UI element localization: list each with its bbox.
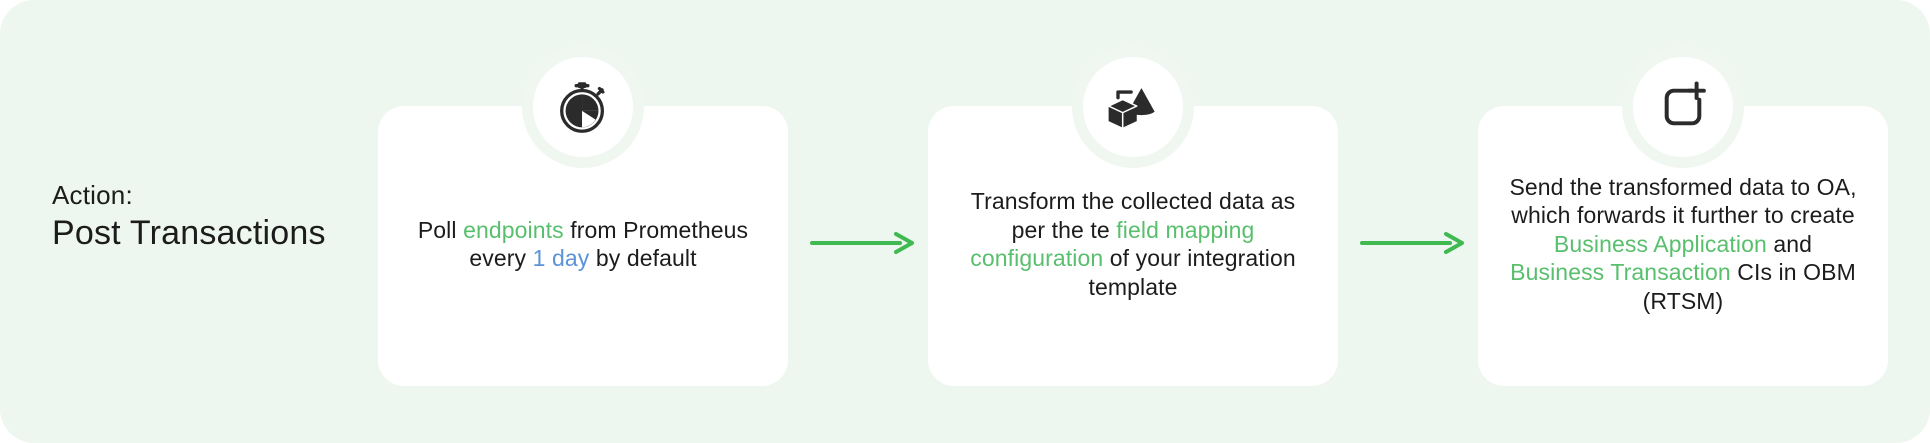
stopwatch-icon <box>522 46 644 168</box>
text-run-highlight: Business Application <box>1554 231 1767 257</box>
flow-card-1-text: Poll endpoints from Prometheus every 1 d… <box>404 216 762 273</box>
text-run: by default <box>589 245 696 271</box>
action-title: Post Transactions <box>52 212 352 254</box>
text-run: Send the transformed data to OA, which f… <box>1509 174 1856 229</box>
text-run-highlight: 1 day <box>533 245 590 271</box>
text-run-highlight: endpoints <box>463 217 564 243</box>
flow-card-3-text: Send the transformed data to OA, which f… <box>1504 173 1862 316</box>
flow-step-2: Transform the collected data as per the … <box>928 46 1338 386</box>
arrow-right-icon <box>810 230 920 256</box>
text-run-highlight: Business Transaction <box>1510 259 1731 285</box>
text-run: and <box>1767 231 1812 257</box>
flow-card-2-text: Transform the collected data as per the … <box>954 187 1312 301</box>
flow-step-1: Poll endpoints from Prometheus every 1 d… <box>378 46 788 386</box>
text-run: of your integration template <box>1088 245 1295 300</box>
arrow-right-icon <box>1360 230 1470 256</box>
text-run: Poll <box>418 217 463 243</box>
transform-shapes-icon <box>1072 46 1194 168</box>
action-label-group: Action: Post Transactions <box>52 178 352 254</box>
diagram-panel: Action: Post Transactions <box>0 0 1930 443</box>
add-square-icon <box>1622 46 1744 168</box>
flow-row: Poll endpoints from Prometheus every 1 d… <box>370 0 1900 443</box>
flow-step-3: Send the transformed data to OA, which f… <box>1478 46 1888 386</box>
diagram-canvas: Action: Post Transactions <box>0 0 1930 443</box>
action-kicker: Action: <box>52 178 352 212</box>
